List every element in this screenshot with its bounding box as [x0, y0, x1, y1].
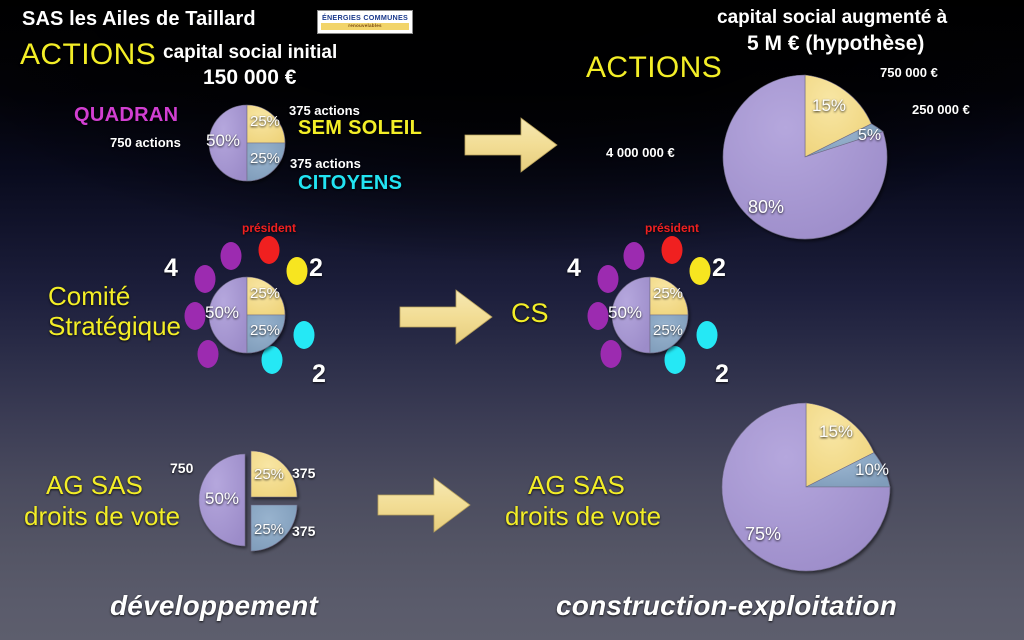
presentation-slide: SAS les Ailes de Taillard ÉNERGIES COMMU… [0, 0, 1024, 640]
pie-actions-initial-pct-purple: 50% [206, 132, 240, 149]
seats-count-yellow-right: 2 [712, 256, 726, 281]
seat-dot-purple [588, 302, 609, 330]
shareholder-quadran-shares: 750 actions [110, 136, 181, 149]
comite-label-line1: Comité [48, 283, 130, 309]
pie-cs-right-pct-purple: 50% [608, 304, 642, 321]
seat-dot-purple [221, 242, 242, 270]
pie-augmente-pct-yellow: 15% [812, 97, 846, 114]
energies-communes-logo: ÉNERGIES COMMUNES renouvelables [317, 10, 413, 34]
seats-count-cyan-right: 2 [715, 362, 729, 387]
seats-count-yellow-left: 2 [309, 256, 323, 281]
logo-primary-text: ÉNERGIES COMMUNES [322, 14, 408, 21]
logo-secondary-text: renouvelables [321, 23, 409, 30]
actions-left-heading: ACTIONS [20, 40, 156, 70]
amount-purple: 4 000 000 € [606, 146, 675, 159]
president-label-left: président [242, 222, 296, 234]
capital-augmente-line2: 5 M € (hypothèse) [747, 33, 924, 54]
pie-ag-right-pct-yellow: 15% [819, 423, 853, 440]
pie-cs-left-pct-yellow: 25% [250, 286, 280, 301]
pie-cs-left-pct-blue: 25% [250, 323, 280, 338]
pie-cs-right-pct-yellow: 25% [653, 286, 683, 301]
pie-cs-left-pct-purple: 50% [205, 304, 239, 321]
pie-ag-right-pct-purple: 75% [745, 525, 781, 543]
comite-label-line2: Stratégique [48, 313, 181, 339]
seat-dot-president [259, 236, 280, 264]
arrow-right-actions [465, 118, 557, 172]
arrow-right-cs [400, 290, 492, 344]
seats-count-purple-left: 4 [164, 256, 178, 281]
seat-dot-yellow [690, 257, 711, 285]
pie-augmente-pct-purple: 80% [748, 198, 784, 216]
shareholder-citoyens-name: CITOYENS [298, 173, 402, 193]
ag-left-label-line2: droits de vote [24, 503, 180, 529]
caption-construction-exploitation: construction-exploitation [556, 592, 897, 620]
ag-right-label-line1: AG SAS [528, 472, 625, 498]
capital-initial-line2: 150 000 € [203, 67, 296, 88]
pie-ag-left-pct-purple: 50% [205, 490, 239, 507]
shareholder-quadran-name: QUADRAN [74, 105, 178, 125]
pie-ag-left-pct-yellow: 25% [254, 467, 284, 482]
actions-right-heading: ACTIONS [586, 53, 722, 83]
amount-yellow: 750 000 € [880, 66, 938, 79]
ag-left-label-line1: AG SAS [46, 472, 143, 498]
pie-ag-right [722, 403, 890, 571]
pie-augmente-pct-blue: 5% [858, 128, 881, 144]
shareholder-sem-soleil-shares: 375 actions [289, 104, 360, 117]
president-label-right: président [645, 222, 699, 234]
pie-cs-right-pct-blue: 25% [653, 323, 683, 338]
shareholder-sem-soleil-name: SEM SOLEIL [298, 118, 422, 138]
slide-title: SAS les Ailes de Taillard [22, 9, 256, 29]
pie-ag-left-pct-blue: 25% [254, 522, 284, 537]
seat-dot-purple [185, 302, 206, 330]
seat-dot-cyan [697, 321, 718, 349]
pie-actions-initial-pct-blue: 25% [250, 151, 280, 166]
arrow-right-ag [378, 478, 470, 532]
pie-ag-right-pct-blue: 10% [855, 461, 889, 478]
seat-dot-cyan [294, 321, 315, 349]
seat-dot-purple [624, 242, 645, 270]
shareholder-citoyens-shares: 375 actions [290, 157, 361, 170]
ag-right-label-line2: droits de vote [505, 503, 661, 529]
pie-actions-initial-pct-yellow: 25% [250, 114, 280, 129]
seats-count-cyan-left: 2 [312, 362, 326, 387]
seat-dot-president [662, 236, 683, 264]
seat-dot-yellow [287, 257, 308, 285]
seats-count-purple-right: 4 [567, 256, 581, 281]
caption-developpement: développement [110, 592, 318, 620]
capital-initial-line1: capital social initial [163, 43, 337, 62]
capital-augmente-line1: capital social augmenté à [717, 8, 947, 27]
cs-right-label: CS [511, 300, 549, 327]
amount-blue: 250 000 € [912, 103, 970, 116]
ag-left-count-purple: 750 [170, 461, 193, 475]
